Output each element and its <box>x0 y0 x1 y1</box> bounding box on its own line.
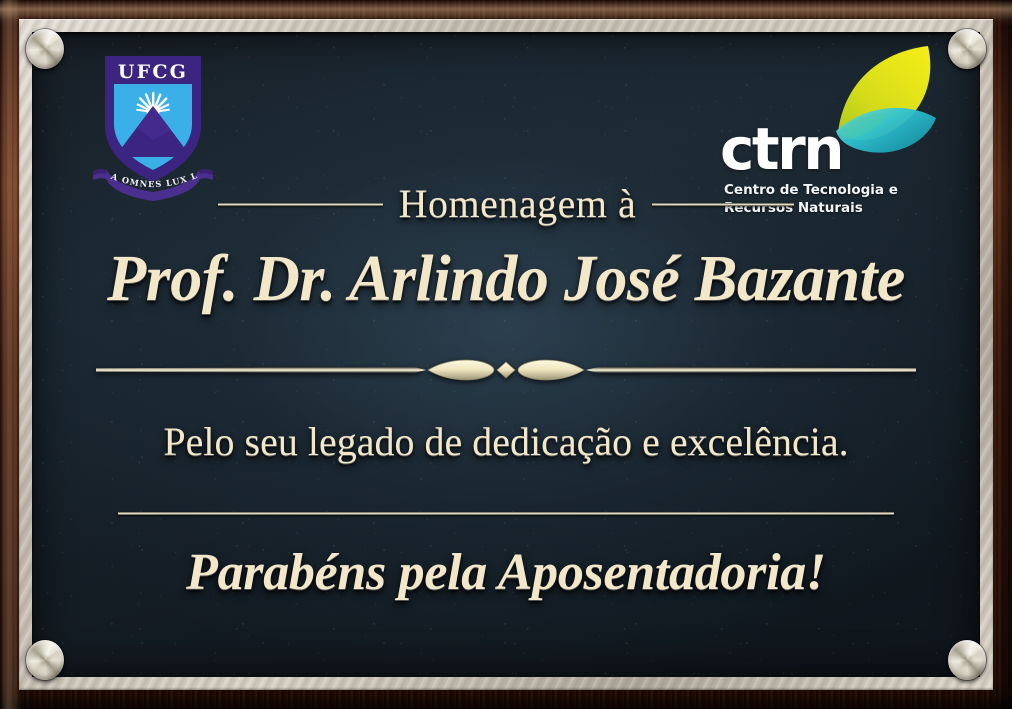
heading-row: Homenagem à <box>32 184 980 224</box>
screw-top-right <box>948 29 986 69</box>
plaque-heading: Homenagem à <box>399 184 637 224</box>
commemorative-plaque: UFCG SUPRA OMNES LUX LUCIS <box>0 0 1012 709</box>
honoree-name: Prof. Dr. Arlindo José Bazante <box>46 244 966 313</box>
legacy-text: Pelo seu legado de dedicação e excelênci… <box>32 420 980 464</box>
screw-top-left <box>26 29 64 69</box>
plaque-content: UFCG SUPRA OMNES LUX LUCIS <box>32 32 980 677</box>
ufcg-shield-icon: UFCG <box>103 54 203 184</box>
heading-rule-left <box>218 203 383 206</box>
divider-rule <box>118 512 894 515</box>
ctrn-wordmark: ctrn <box>720 120 842 178</box>
screw-bottom-right <box>948 640 986 680</box>
ufcg-logo: UFCG SUPRA OMNES LUX LUCIS <box>94 54 212 202</box>
screw-bottom-left <box>26 640 64 680</box>
congratulations-text: Parabéns pela Aposentadoria! <box>32 544 980 601</box>
svg-text:UFCG: UFCG <box>118 61 188 83</box>
heading-rule-right <box>652 203 794 206</box>
ornamental-divider-icon <box>32 357 980 383</box>
